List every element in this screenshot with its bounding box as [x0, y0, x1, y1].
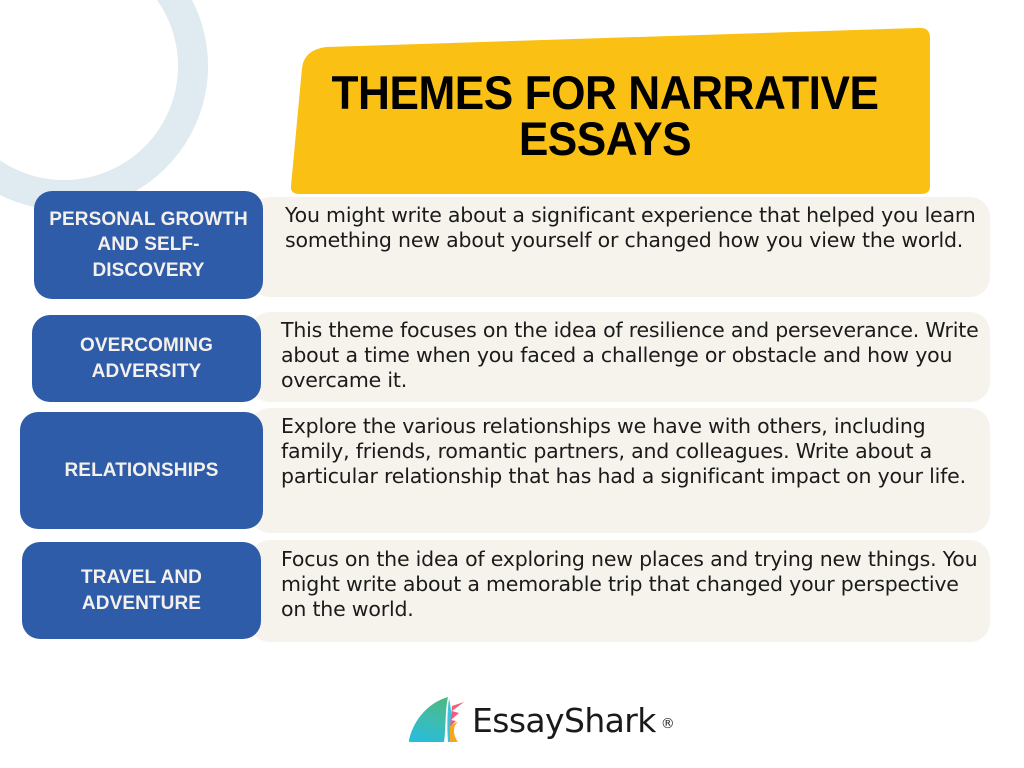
theme-description-text: Focus on the idea of exploring new place… [281, 547, 981, 622]
poster-canvas: THEMES FOR NARRATIVE ESSAYS You might wr… [0, 0, 1024, 768]
theme-label-text: OVERCOMING ADVERSITY [32, 333, 261, 383]
theme-label-box[interactable]: OVERCOMING ADVERSITY [32, 315, 261, 402]
theme-label-text: PERSONAL GROWTH AND SELF-DISCOVERY [34, 207, 263, 282]
theme-label-box[interactable]: TRAVEL AND ADVENTURE [22, 542, 261, 639]
theme-description-text: This theme focuses on the idea of resili… [281, 318, 981, 393]
theme-label-text: TRAVEL AND ADVENTURE [22, 565, 261, 615]
theme-description-text: You might write about a significant expe… [285, 203, 985, 253]
registered-trademark-icon: ® [661, 708, 675, 732]
brand-wordmark: EssayShark [472, 704, 656, 737]
theme-label-box[interactable]: PERSONAL GROWTH AND SELF-DISCOVERY [34, 191, 263, 299]
theme-list: You might write about a significant expe… [0, 0, 1024, 768]
shark-fin-icon [408, 696, 466, 744]
theme-label-box[interactable]: RELATIONSHIPS [20, 412, 263, 529]
theme-description-text: Explore the various relationships we hav… [281, 414, 991, 489]
brand-logo[interactable]: EssayShark ® [408, 696, 675, 744]
theme-label-text: RELATIONSHIPS [54, 458, 228, 483]
